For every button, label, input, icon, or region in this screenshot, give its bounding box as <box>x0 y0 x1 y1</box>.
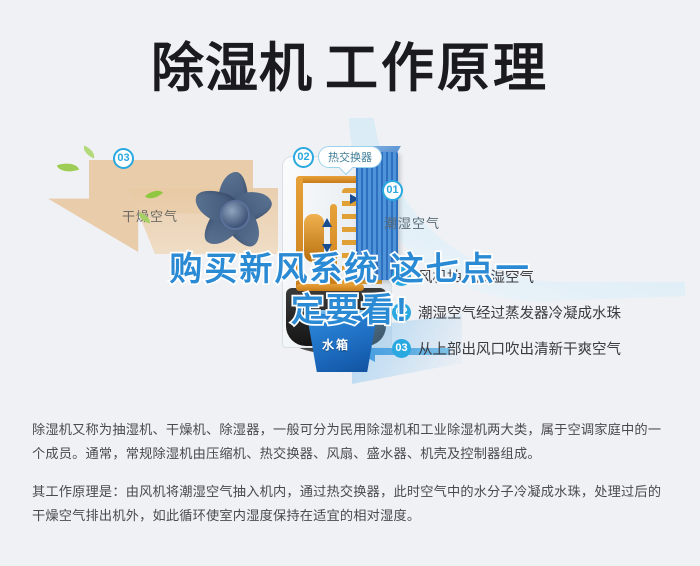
badge-01: 01 <box>382 180 403 201</box>
water-tank-label: 水箱 <box>322 336 350 353</box>
compressor <box>304 214 324 262</box>
badge-03: 03 <box>113 148 134 169</box>
legend-badge-02: 02 <box>392 303 411 322</box>
legend-text-02: 潮湿空气经过蒸发器冷凝成水珠 <box>418 302 621 323</box>
paragraph-principle: 其工作原理是：由风机将潮湿空气抽入机内，通过热交换器，此时空气中的水分子冷凝成水… <box>32 480 672 528</box>
callout-dry-air: 03 <box>113 148 134 169</box>
process-legend: 01 风机抽入潮湿空气 02 潮湿空气经过蒸发器冷凝成水珠 03 从上部出风口吹… <box>392 258 682 366</box>
leaf-icon <box>57 159 79 176</box>
badge-02: 02 <box>293 147 314 168</box>
legend-badge-01: 01 <box>392 267 411 286</box>
title-subject: 除湿机 <box>151 39 313 98</box>
fan-illustration <box>186 166 278 258</box>
flow-arrow-up-icon <box>322 218 332 227</box>
legend-badge-03: 03 <box>392 339 411 358</box>
legend-text-03: 从上部出风口吹出清新干爽空气 <box>418 338 621 359</box>
heat-exchanger-label: 热交换器 <box>318 146 382 168</box>
legend-item: 03 从上部出风口吹出清新干爽空气 <box>392 330 682 366</box>
fan-hub <box>220 200 250 230</box>
humid-air-label: 潮湿空气 <box>384 213 440 232</box>
refrigerant-pipe <box>296 176 303 291</box>
body-copy: 除湿机又称为抽湿机、干燥机、除湿器，一般可分为民用除湿机和工业除湿机两大类，属于… <box>32 418 672 542</box>
callout-heat-exchanger: 02 热交换器 <box>293 146 382 168</box>
title-topic: 工作原理 <box>325 39 549 98</box>
legend-item: 02 潮湿空气经过蒸发器冷凝成水珠 <box>392 294 682 330</box>
callout-humid-air: 01 潮湿空气 <box>382 180 440 232</box>
flow-arrow-down-icon <box>322 244 332 253</box>
paragraph-definition: 除湿机又称为抽湿机、干燥机、除湿器，一般可分为民用除湿机和工业除湿机两大类，属于… <box>32 418 672 466</box>
legend-text-01: 风机抽入潮湿空气 <box>418 266 534 287</box>
legend-item: 01 风机抽入潮湿空气 <box>392 258 682 294</box>
page-title: 除湿机工作原理 <box>0 26 700 102</box>
infographic-page: 除湿机工作原理 干燥空气 <box>0 0 700 566</box>
leaf-icon <box>81 145 97 158</box>
